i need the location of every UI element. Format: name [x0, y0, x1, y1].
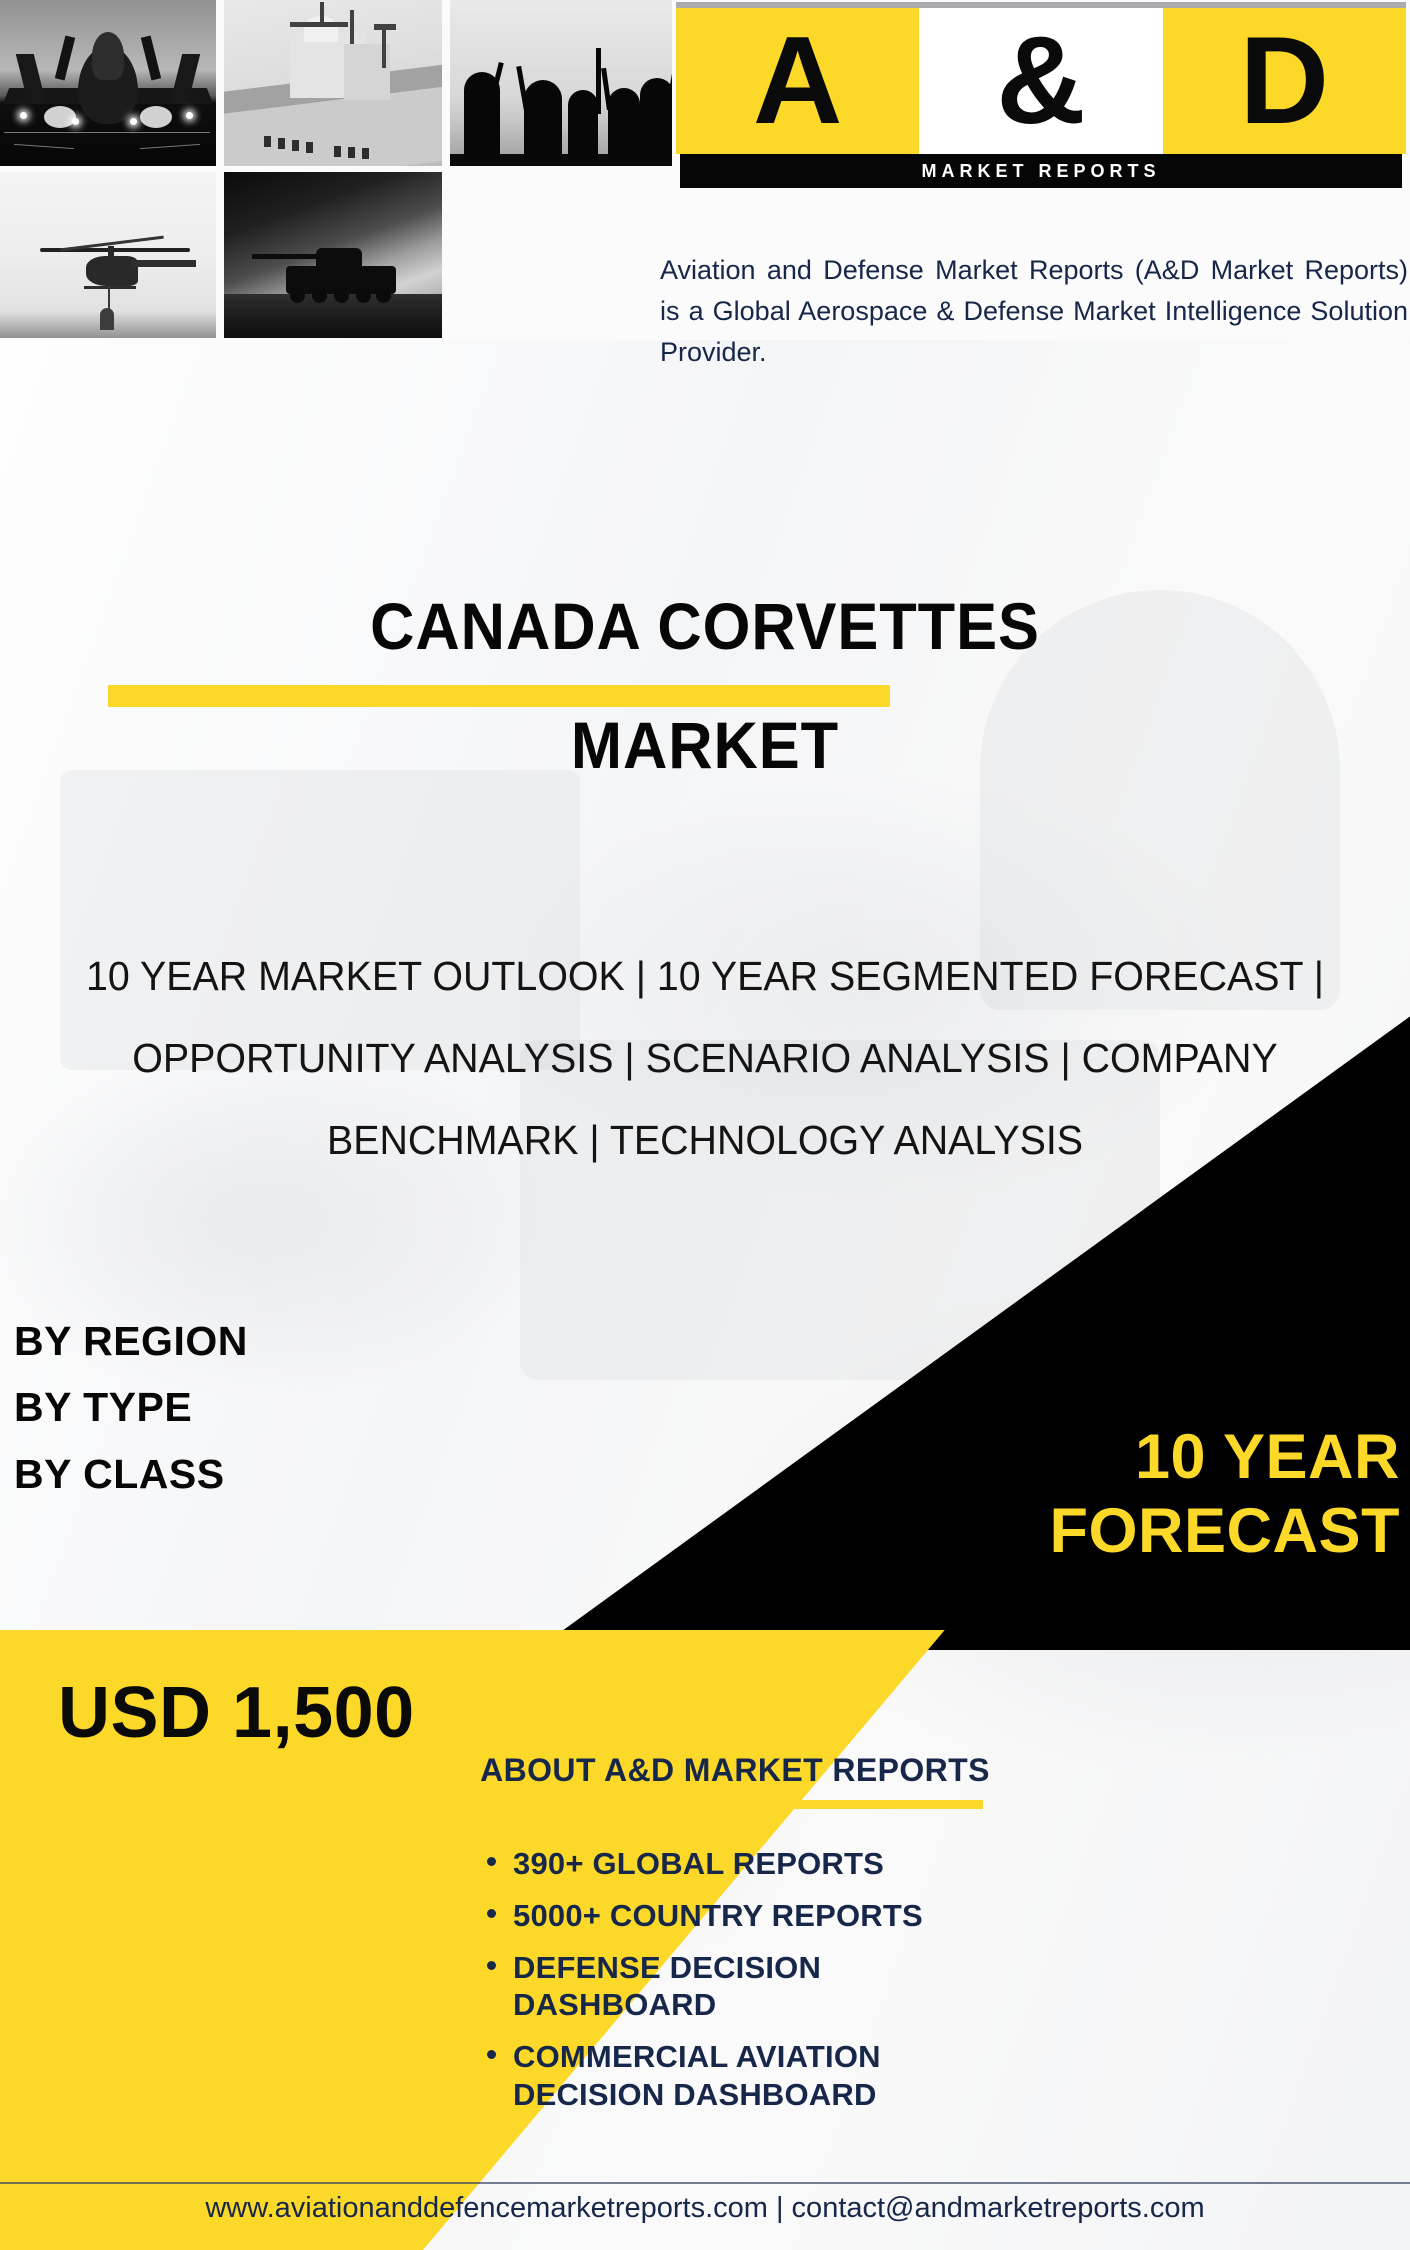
bullet-icon [487, 2050, 496, 2059]
list-item: 5000+ COUNTRY REPORTS [513, 1897, 1015, 1935]
about-bullet-text: 390+ GLOBAL REPORTS [513, 1846, 884, 1881]
forecast-badge-line2: FORECAST [580, 1494, 1400, 1568]
bullet-icon [487, 1857, 496, 1866]
price-value: USD 1,500 [58, 1672, 578, 1754]
logo-letter-blocks: A & D [676, 8, 1406, 154]
forecast-badge-line1: 10 YEAR [580, 1420, 1400, 1494]
list-item: 390+ GLOBAL REPORTS [513, 1845, 1015, 1883]
photo-armored-tank [224, 172, 442, 338]
logo-tagline: MARKET REPORTS [921, 161, 1160, 182]
segmentation-item-type: BY TYPE [14, 1374, 574, 1440]
about-bullet-list: 390+ GLOBAL REPORTS 5000+ COUNTRY REPORT… [455, 1845, 1015, 2114]
photo-grid [0, 0, 672, 340]
about-bullet-text: DEFENSE DECISION DASHBOARD [513, 1950, 821, 2023]
about-bullet-text: 5000+ COUNTRY REPORTS [513, 1898, 923, 1933]
logo-letter-d: D [1163, 8, 1406, 154]
photo-fighter-jet-on-carrier-deck [0, 0, 216, 166]
title-yellow-rule [108, 685, 890, 707]
segmentation-item-class: BY CLASS [14, 1441, 574, 1507]
poster-page: A & D MARKET REPORTS Aviation and Defens… [0, 0, 1410, 2250]
photo-naval-warship [224, 0, 442, 166]
company-intro-paragraph: Aviation and Defense Market Reports (A&D… [660, 250, 1408, 373]
bullet-icon [487, 1909, 496, 1918]
about-section: ABOUT A&D MARKET REPORTS 390+ GLOBAL REP… [455, 1752, 1015, 2128]
report-scope-subtitle: 10 YEAR MARKET OUTLOOK | 10 YEAR SEGMENT… [55, 935, 1355, 1181]
about-bullet-text: COMMERCIAL AVIATION DECISION DASHBOARD [513, 2039, 881, 2112]
about-yellow-rule [463, 1800, 983, 1809]
segmentation-list: BY REGION BY TYPE BY CLASS [14, 1308, 574, 1507]
photo-military-helicopter [0, 172, 216, 338]
list-item: COMMERCIAL AVIATION DECISION DASHBOARD [513, 2038, 1015, 2114]
logo-tagline-bar: MARKET REPORTS [680, 154, 1402, 188]
page-title-line1: CANADA CORVETTES [49, 592, 1360, 661]
company-logo: A & D MARKET REPORTS [676, 2, 1406, 188]
logo-letter-a: A [676, 8, 919, 154]
about-section-title: ABOUT A&D MARKET REPORTS [455, 1752, 1015, 1789]
footer-divider [0, 2182, 1410, 2184]
list-item: DEFENSE DECISION DASHBOARD [513, 1949, 1015, 2025]
bullet-icon [487, 1961, 496, 1970]
photo-soldiers-silhouette [450, 0, 672, 166]
logo-ampersand: & [919, 8, 1162, 154]
page-title-line2: MARKET [49, 711, 1360, 780]
footer-contact: www.aviationanddefencemarketreports.com … [0, 2192, 1410, 2225]
segmentation-item-region: BY REGION [14, 1308, 574, 1374]
forecast-badge: 10 YEAR FORECAST [580, 1420, 1410, 1569]
